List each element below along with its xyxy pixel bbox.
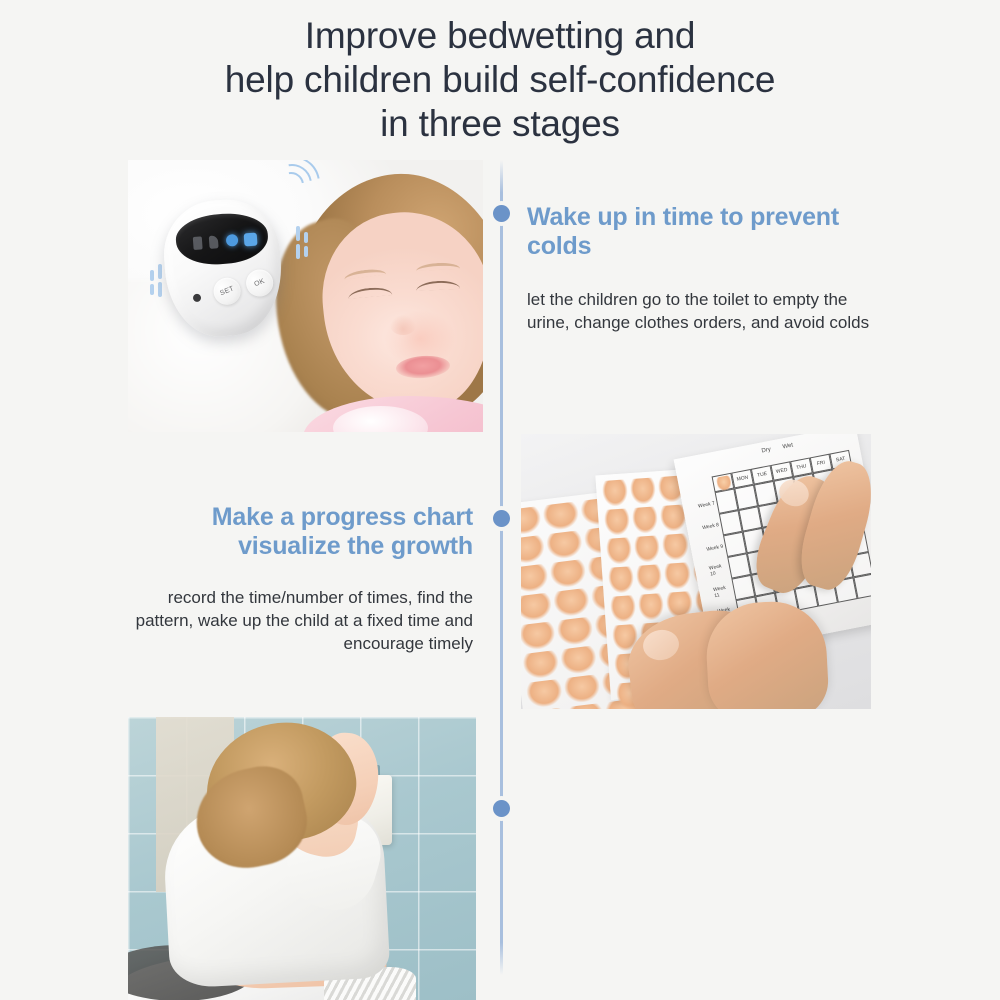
timeline-dot-step-3: [493, 800, 510, 817]
section-2-text: Make a progress chart visualize the grow…: [128, 503, 473, 655]
section-1-text: Wake up in time to prevent colds let the…: [527, 203, 872, 334]
infographic-canvas: Improve bedwetting and help children bui…: [0, 0, 1000, 1000]
vibration-line-left-2: [150, 284, 154, 295]
timeline-dot-step-2: [493, 510, 510, 527]
photo-sticker-progress-chart: Dry Wet SUN MON TUE WED THU FRI SAT Week…: [521, 434, 871, 709]
page-title: Improve bedwetting and help children bui…: [0, 14, 1000, 146]
bluetooth-indicator-icon: [226, 234, 239, 247]
timeline-connector-line: [500, 160, 503, 975]
vibration-line-left-1: [150, 270, 154, 281]
volume-icon: [209, 235, 219, 249]
section-1-body: let the children go to the toilet to emp…: [527, 288, 872, 334]
photo-sleeping-child-with-alarm: SET OK: [128, 160, 483, 432]
vibration-line-left-4: [158, 282, 162, 297]
vibration-line-right-2: [304, 246, 308, 257]
chart-legend: Dry Wet: [761, 442, 793, 454]
headline-line-1: Improve bedwetting and: [0, 14, 1000, 58]
section-1-heading: Wake up in time to prevent colds: [527, 203, 872, 261]
section-2-heading: Make a progress chart visualize the grow…: [128, 503, 473, 561]
child-nose: [390, 315, 416, 335]
section-2-body: record the time/number of times, find th…: [128, 586, 473, 655]
alarm-bell-icon: [244, 233, 258, 247]
vibration-line-right-3: [296, 226, 300, 241]
device-display-panel: [174, 211, 269, 267]
battery-icon: [193, 236, 203, 250]
vibration-line-left-3: [158, 264, 162, 279]
vibration-line-right-1: [304, 232, 308, 243]
headline-line-2: help children build self-confidence: [0, 58, 1000, 102]
vibration-line-right-4: [296, 244, 300, 259]
device-ok-button: OK: [242, 265, 277, 300]
legend-dry-label: Dry: [761, 447, 771, 455]
placed-sticker: [716, 475, 732, 491]
device-microphone-hole: [193, 294, 202, 303]
device-set-button: SET: [210, 274, 245, 309]
headline-line-3: in three stages: [0, 102, 1000, 146]
timeline-dot-step-1: [493, 205, 510, 222]
photo-child-on-toilet: [128, 717, 476, 1000]
legend-wet-label: Wet: [782, 442, 794, 450]
